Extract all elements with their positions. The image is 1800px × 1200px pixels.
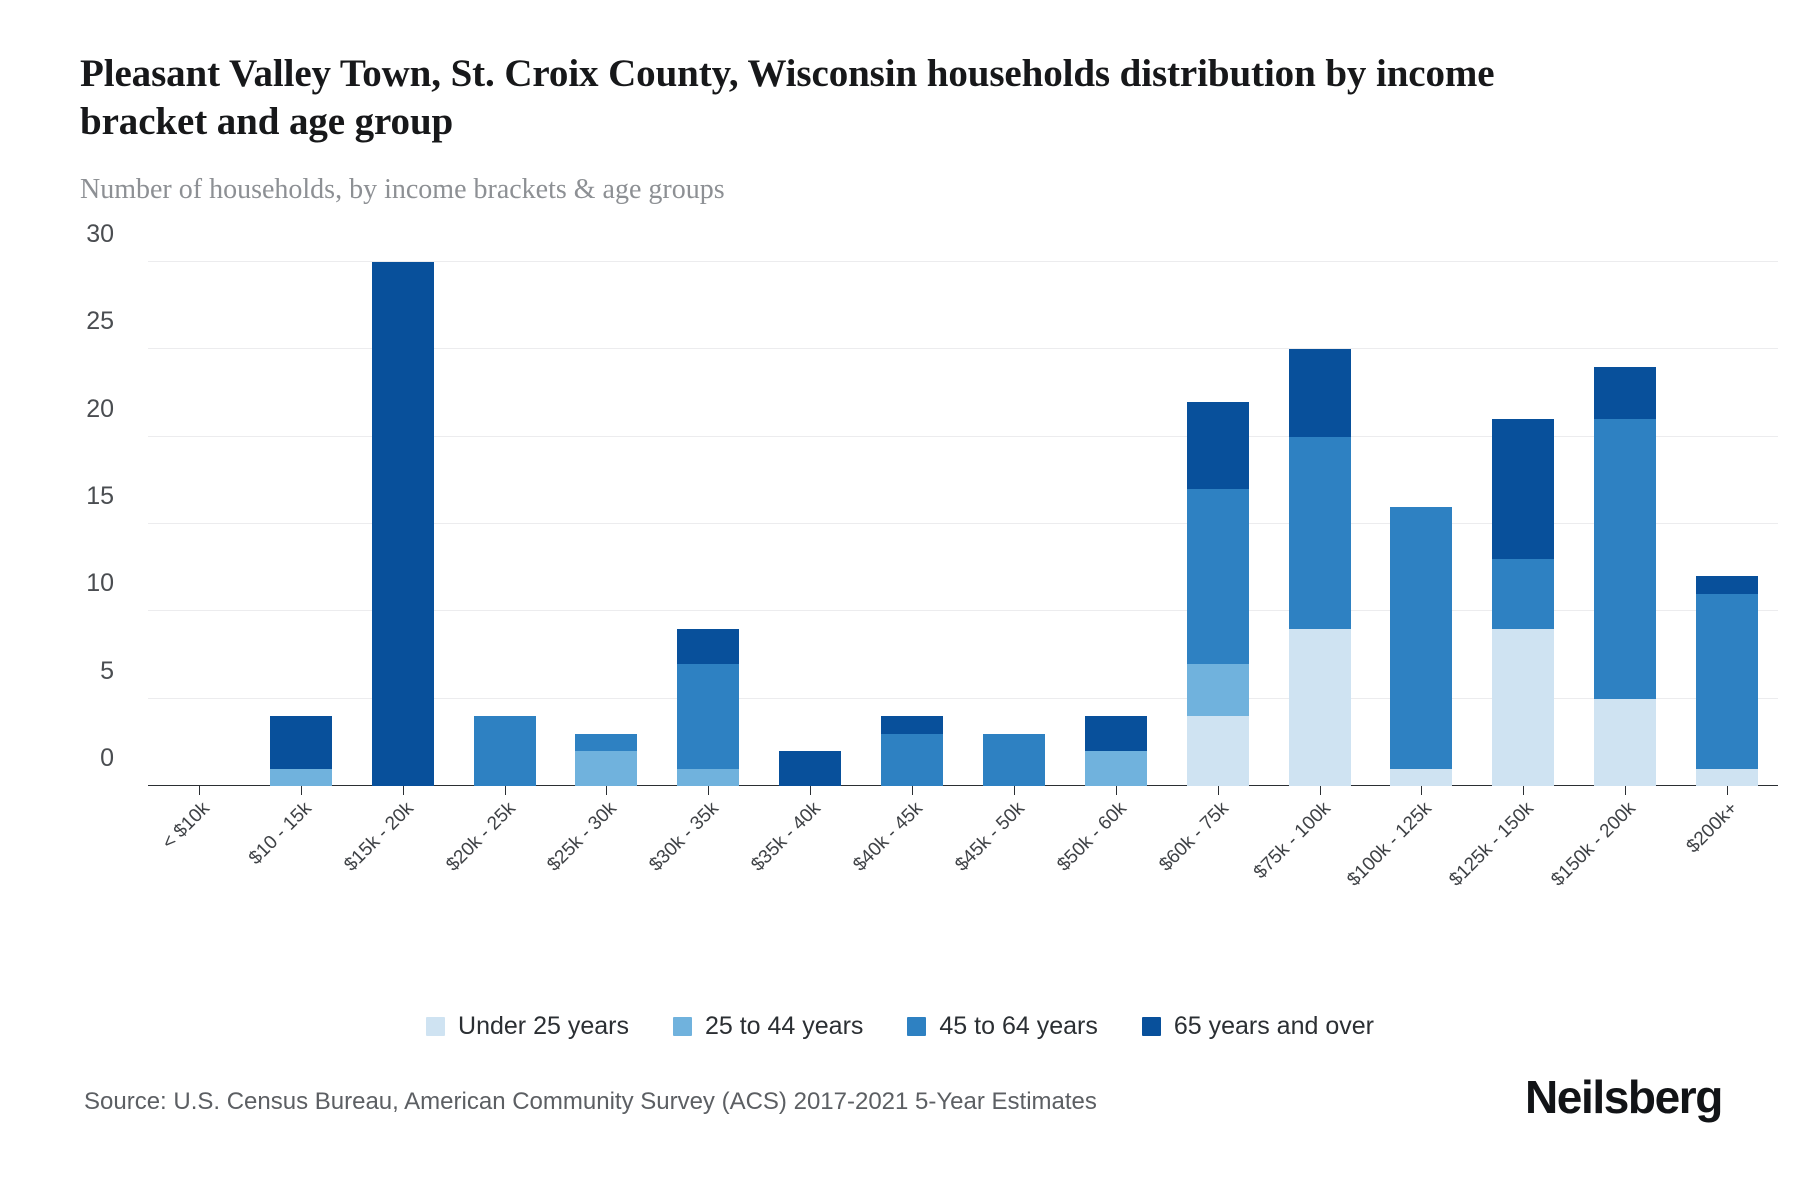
y-axis-tick-label: 10	[54, 569, 114, 598]
bar-segment[interactable]	[677, 769, 739, 786]
bar-segment[interactable]	[1492, 559, 1554, 629]
x-axis-tick	[1218, 786, 1219, 795]
bar-stack[interactable]	[1289, 349, 1351, 786]
bar-stack[interactable]	[1594, 367, 1656, 786]
bar-segment[interactable]	[1696, 576, 1758, 593]
x-axis-tick	[912, 786, 913, 795]
bar-stack[interactable]	[779, 751, 841, 786]
x-axis-tick	[403, 786, 404, 795]
x-axis-tick	[1320, 786, 1321, 795]
bar-column[interactable]	[1269, 262, 1371, 786]
bar-stack[interactable]	[881, 716, 943, 786]
legend-item[interactable]: 65 years and over	[1142, 1012, 1374, 1041]
x-axis-tick	[1727, 786, 1728, 795]
bar-segment[interactable]	[575, 751, 637, 786]
x-axis-tick	[199, 786, 200, 795]
legend-label: 65 years and over	[1174, 1012, 1374, 1041]
bar-column[interactable]	[454, 262, 556, 786]
bar-column[interactable]	[963, 262, 1065, 786]
bar-segment[interactable]	[1492, 629, 1554, 786]
x-axis-tick	[1421, 786, 1422, 795]
source-note: Source: U.S. Census Bureau, American Com…	[84, 1088, 1097, 1116]
bar-stack[interactable]	[677, 629, 739, 786]
bar-segment[interactable]	[1085, 751, 1147, 786]
bar-segment[interactable]	[1390, 507, 1452, 769]
bar-segment[interactable]	[1187, 664, 1249, 716]
bar-stack[interactable]	[1085, 716, 1147, 786]
bar-segment[interactable]	[1289, 629, 1351, 786]
y-axis-tick-label: 25	[54, 307, 114, 336]
bar-column[interactable]	[556, 262, 658, 786]
bar-segment[interactable]	[474, 716, 536, 786]
bar-column[interactable]	[148, 262, 250, 786]
y-axis-tick-label: 0	[54, 744, 114, 773]
x-axis-tick	[301, 786, 302, 795]
bar-stack[interactable]	[575, 734, 637, 786]
bar-segment[interactable]	[270, 769, 332, 786]
bar-column[interactable]	[352, 262, 454, 786]
x-axis-tick	[810, 786, 811, 795]
page-title: Pleasant Valley Town, St. Croix County, …	[80, 50, 1540, 146]
bar-segment[interactable]	[1187, 489, 1249, 664]
y-axis-tick-label: 30	[54, 220, 114, 249]
bar-segment[interactable]	[1085, 716, 1147, 751]
bar-segment[interactable]	[779, 751, 841, 786]
bar-column[interactable]	[657, 262, 759, 786]
legend-item[interactable]: Under 25 years	[426, 1012, 629, 1041]
x-axis-labels: < $10k$10 - 15k$15k - 20k$20k - 25k$25k …	[148, 798, 1778, 918]
chart-page: Pleasant Valley Town, St. Croix County, …	[0, 0, 1800, 1200]
bar-column[interactable]	[759, 262, 861, 786]
x-axis-tick	[1014, 786, 1015, 795]
legend-item[interactable]: 25 to 44 years	[673, 1012, 863, 1041]
brand-logo: Neilsberg	[1525, 1070, 1722, 1124]
x-axis-tick	[505, 786, 506, 795]
y-axis-tick-label: 15	[54, 482, 114, 511]
page-subtitle: Number of households, by income brackets…	[80, 172, 1480, 208]
bar-segment[interactable]	[1390, 769, 1452, 786]
legend-swatch-icon	[426, 1017, 445, 1036]
bar-stack[interactable]	[474, 716, 536, 786]
bar-segment[interactable]	[270, 716, 332, 768]
bar-stack[interactable]	[1492, 419, 1554, 786]
bar-segment[interactable]	[677, 629, 739, 664]
chart-legend: Under 25 years25 to 44 years45 to 64 yea…	[0, 1012, 1800, 1041]
bar-segment[interactable]	[372, 262, 434, 786]
bar-stack[interactable]	[372, 262, 434, 786]
x-axis-tick	[606, 786, 607, 795]
x-axis-tick	[1625, 786, 1626, 795]
y-axis-tick-label: 20	[54, 395, 114, 424]
bar-segment[interactable]	[1187, 402, 1249, 489]
legend-label: Under 25 years	[458, 1012, 629, 1041]
x-axis-tick	[1523, 786, 1524, 795]
legend-swatch-icon	[1142, 1017, 1161, 1036]
bar-column[interactable]	[1371, 262, 1473, 786]
x-axis-tick	[708, 786, 709, 795]
legend-swatch-icon	[907, 1017, 926, 1036]
bar-stack[interactable]	[983, 734, 1045, 786]
bar-series-container	[148, 262, 1778, 786]
bar-segment[interactable]	[1594, 699, 1656, 786]
bar-stack[interactable]	[270, 716, 332, 786]
bar-segment[interactable]	[881, 734, 943, 786]
bar-segment[interactable]	[677, 664, 739, 769]
legend-label: 25 to 44 years	[705, 1012, 863, 1041]
bar-stack[interactable]	[1696, 576, 1758, 786]
bar-segment[interactable]	[983, 734, 1045, 786]
bar-segment[interactable]	[881, 716, 943, 733]
bar-segment[interactable]	[1289, 349, 1351, 436]
bar-column[interactable]	[1472, 262, 1574, 786]
bar-column[interactable]	[861, 262, 963, 786]
bar-column[interactable]	[1065, 262, 1167, 786]
bar-column[interactable]	[250, 262, 352, 786]
bar-segment[interactable]	[1594, 367, 1656, 419]
bar-segment[interactable]	[575, 734, 637, 751]
legend-label: 45 to 64 years	[939, 1012, 1097, 1041]
bar-segment[interactable]	[1492, 419, 1554, 559]
plot-area: 051015202530	[148, 262, 1778, 786]
bar-segment[interactable]	[1594, 419, 1656, 698]
bar-column[interactable]	[1574, 262, 1676, 786]
bar-segment[interactable]	[1696, 769, 1758, 786]
x-axis-tick	[1116, 786, 1117, 795]
legend-item[interactable]: 45 to 64 years	[907, 1012, 1097, 1041]
bar-segment[interactable]	[1187, 716, 1249, 786]
bar-segment[interactable]	[1696, 594, 1758, 769]
bar-segment[interactable]	[1289, 437, 1351, 629]
bar-stack[interactable]	[1187, 402, 1249, 786]
bar-column[interactable]	[1167, 262, 1269, 786]
y-axis-tick-label: 5	[54, 657, 114, 686]
bar-column[interactable]	[1676, 262, 1778, 786]
bar-stack[interactable]	[1390, 507, 1452, 786]
legend-swatch-icon	[673, 1017, 692, 1036]
